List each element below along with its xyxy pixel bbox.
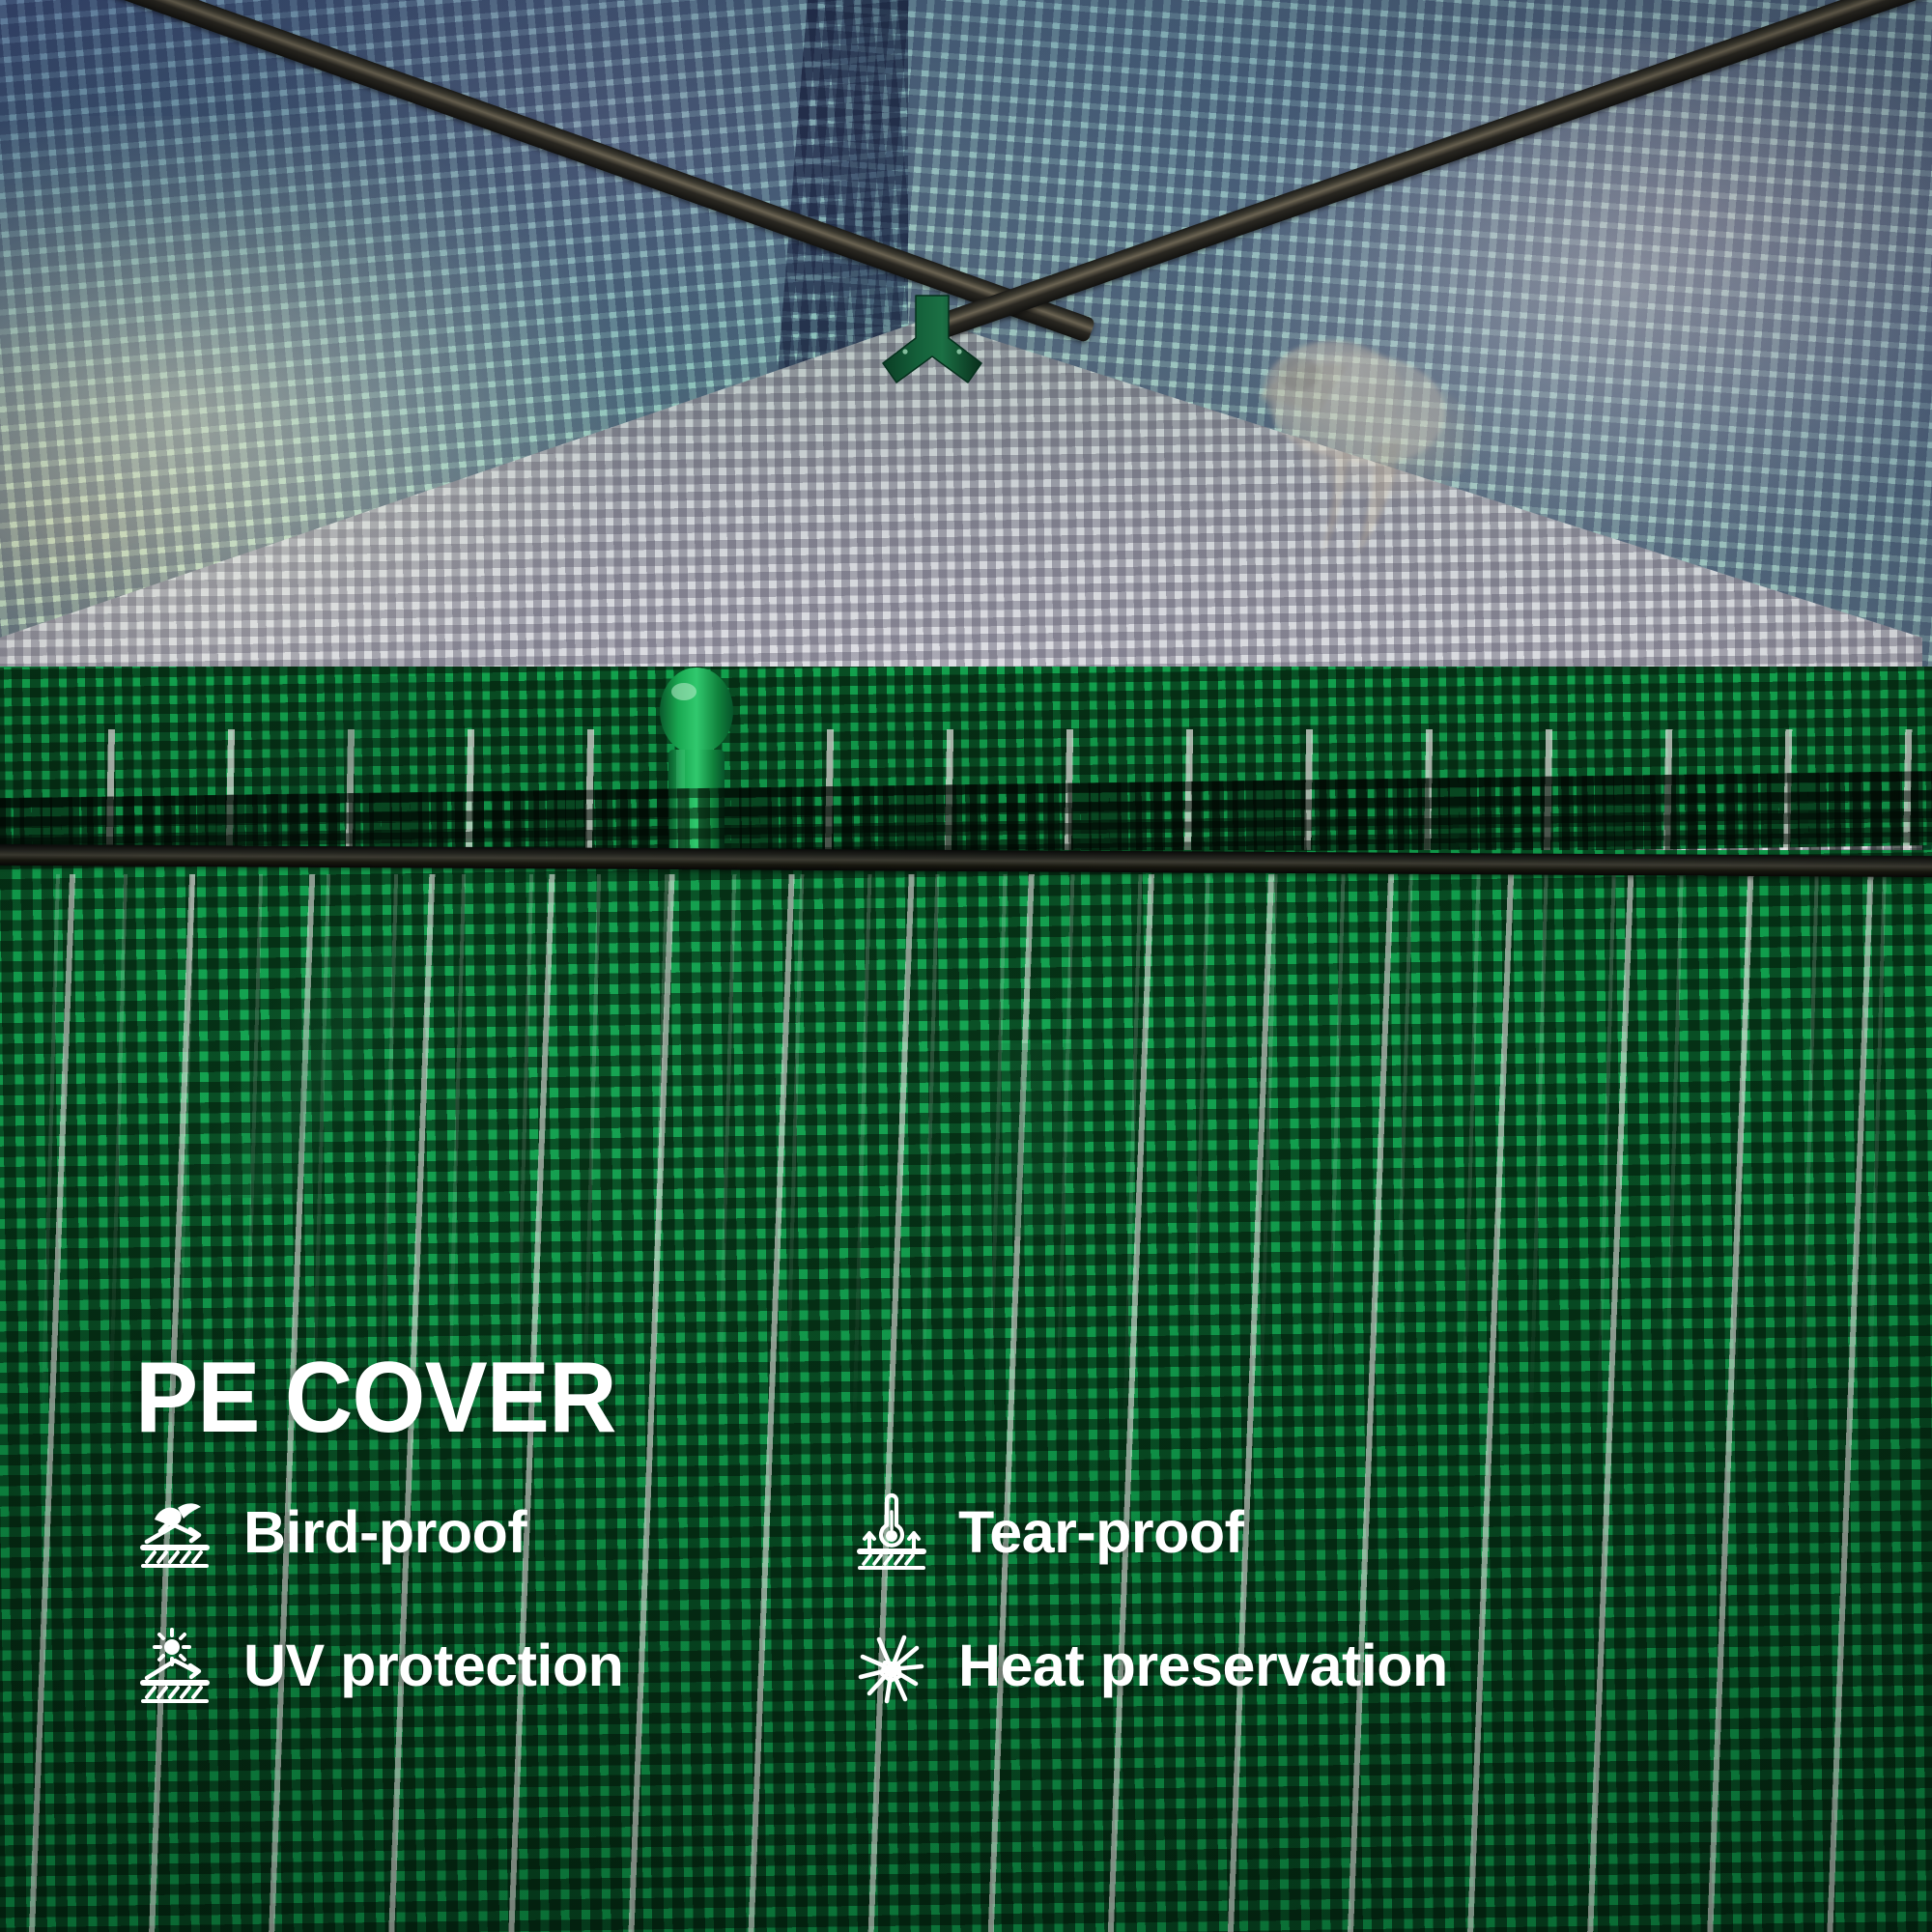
feature-item-uv-protection: UV protection xyxy=(135,1624,850,1707)
feature-item-bird-proof: Bird-proof xyxy=(135,1491,850,1574)
tear-proof-icon xyxy=(850,1491,933,1574)
y-connector-joint xyxy=(874,290,990,406)
fabric-crease-left xyxy=(116,947,522,1198)
product-feature-image: PE COVER Bird-proof xyxy=(0,0,1932,1932)
heat-preservation-icon xyxy=(850,1624,933,1707)
feature-item-heat-preservation: Heat preservation xyxy=(850,1624,1777,1707)
bird-proof-icon xyxy=(135,1491,218,1574)
feature-label: Tear-proof xyxy=(958,1498,1243,1566)
feature-item-tear-proof: Tear-proof xyxy=(850,1491,1777,1574)
page-title: PE COVER xyxy=(135,1348,1679,1448)
fabric-crease-center xyxy=(792,1043,1256,1236)
promo-overlay: PE COVER Bird-proof xyxy=(135,1348,1777,1707)
feature-label: Bird-proof xyxy=(243,1498,526,1566)
feature-label: UV protection xyxy=(243,1632,623,1699)
uv-protection-icon xyxy=(135,1624,218,1707)
bird-silhouette-icon xyxy=(1203,324,1502,613)
feature-grid: Bird-proof Tear-proof xyxy=(135,1491,1777,1707)
feature-label: Heat preservation xyxy=(958,1632,1448,1699)
